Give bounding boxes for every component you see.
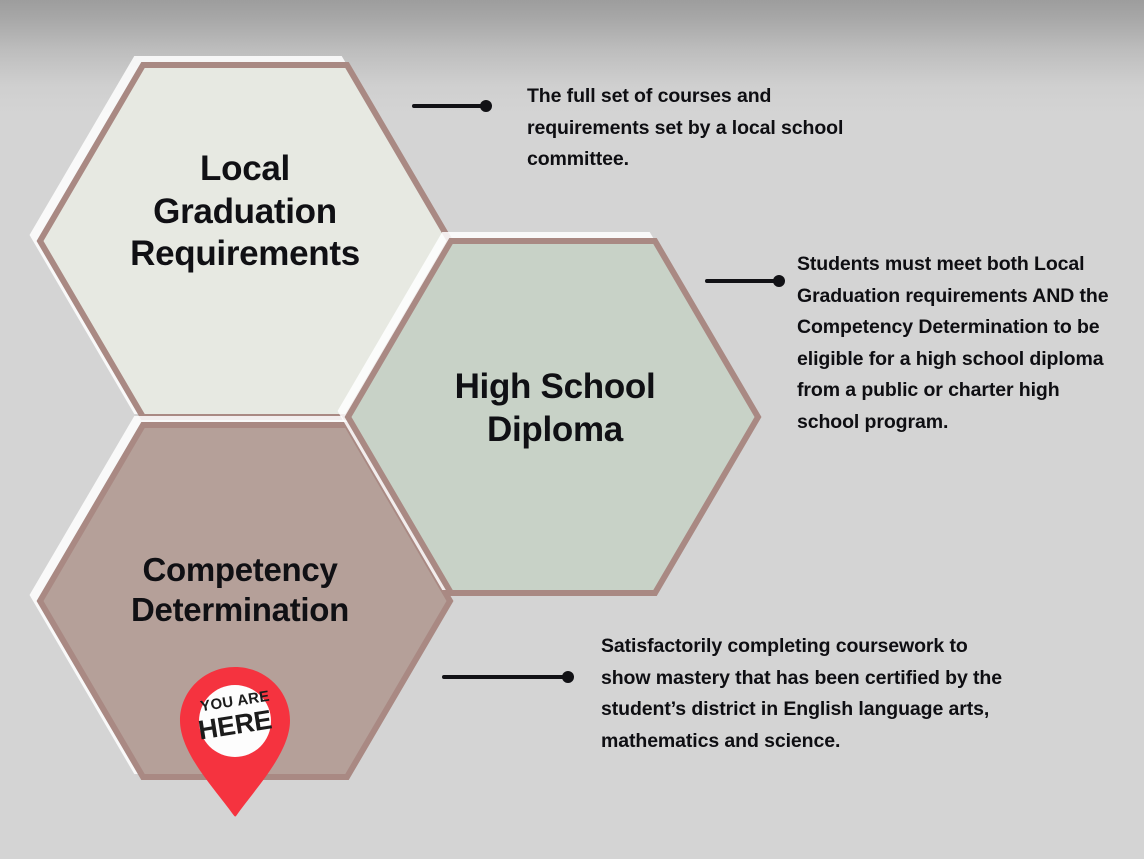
leader-line-high-school-diploma [705,275,785,287]
leader-line-bar [442,675,568,679]
leader-line-dot [562,671,574,683]
leader-line-bar [412,104,486,108]
leader-line-dot [480,100,492,112]
you-are-here-pin: YOU ARE HERE [178,665,292,817]
callout-text-competency-determination: Satisfactorily completing coursework to … [601,631,1021,757]
leader-line-bar [705,279,779,283]
hexagon-label-competency-determination: Competency Determination [30,550,450,631]
diagram-canvas: Local Graduation Requirements High Schoo… [0,0,1144,859]
hexagon-label-high-school-diploma: High School Diploma [345,366,765,451]
hexagon-label-local-graduation-requirements: Local Graduation Requirements [37,148,453,276]
leader-line-competency-determination [442,671,574,683]
leader-line-local-graduation [412,100,492,112]
callout-text-high-school-diploma: Students must meet both Local Graduation… [797,249,1127,438]
callout-text-local-graduation: The full set of courses and requirements… [527,81,857,176]
leader-line-dot [773,275,785,287]
